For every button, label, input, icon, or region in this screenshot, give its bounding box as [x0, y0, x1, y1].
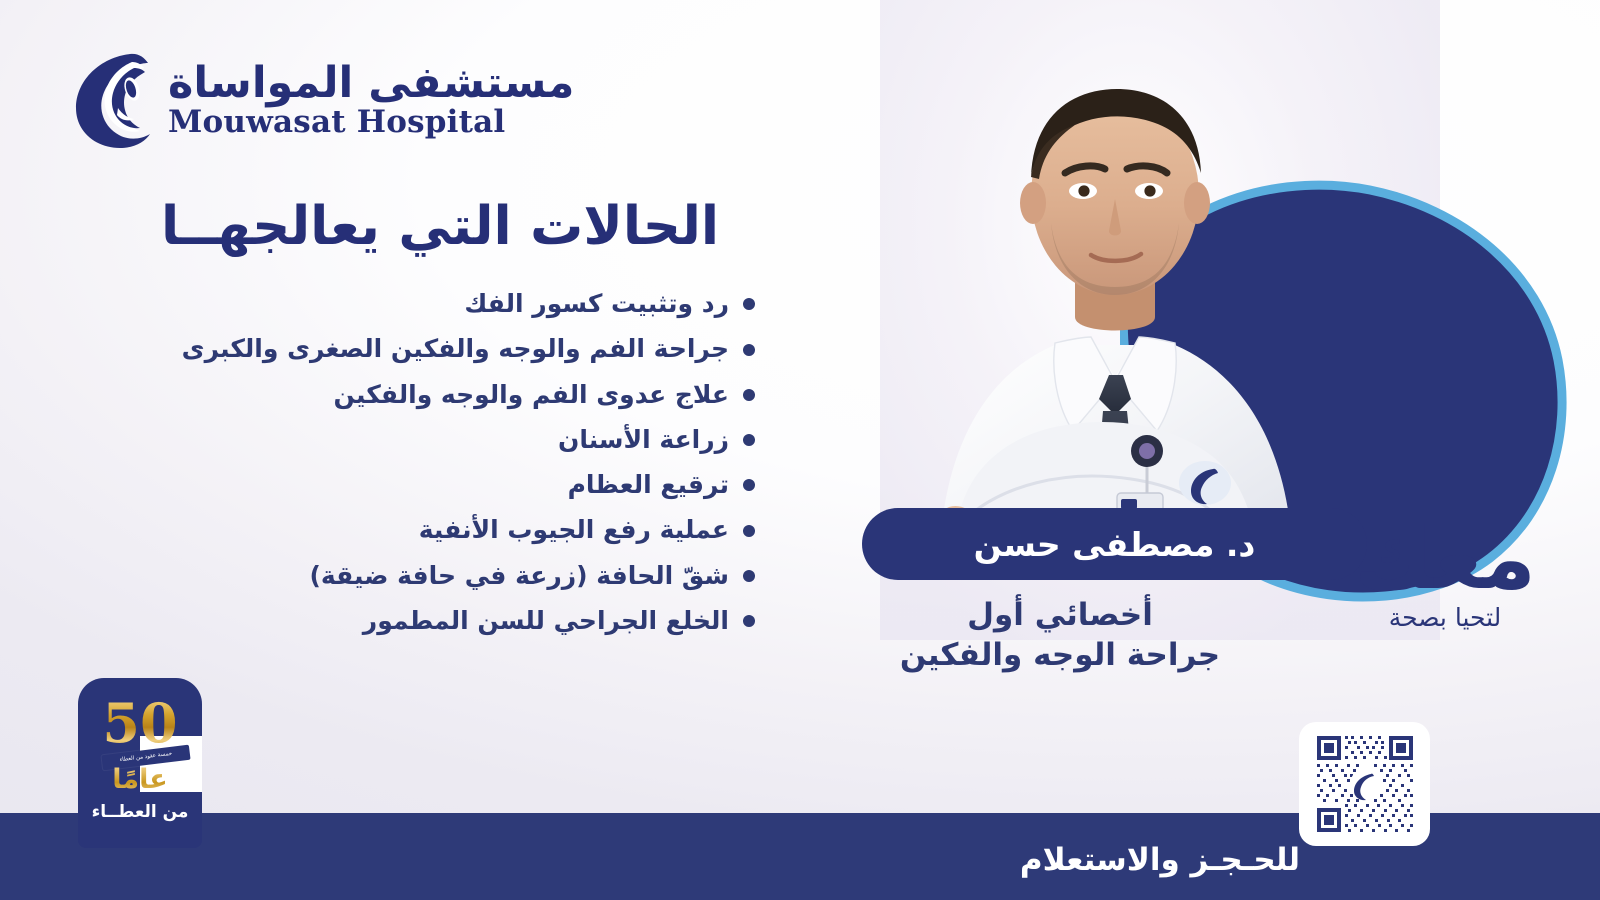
condition-label: عملية رفع الجيوب الأنفية [419, 516, 729, 545]
anniversary-badge: 50 خمسة عقود من العطاء عامًا من العطــاء [78, 678, 202, 848]
condition-label: زراعة الأسنان [558, 426, 729, 455]
list-item: شقّ الحافة (زرعة في حافة ضيقة) [115, 562, 755, 591]
hospital-logo: مستشفى المواساة Mouwasat Hospital [70, 48, 574, 152]
logo-arabic-text: مستشفى المواساة [168, 62, 574, 105]
doctor-portrait [905, 55, 1325, 575]
doctor-specialty: أخصائي أول جراحة الوجه والفكين [700, 596, 1420, 675]
condition-label: جراحة الفم والوجه والفكين الصغرى والكبرى [182, 335, 729, 364]
condition-label: الخلع الجراحي للسن المطمور [363, 607, 729, 636]
list-item: عملية رفع الجيوب الأنفية [115, 516, 755, 545]
list-item: زراعة الأسنان [115, 426, 755, 455]
bullet-dot-icon [743, 525, 755, 537]
doctor-name-badge: د. مصطفى حسن [862, 508, 1367, 580]
qr-code-card[interactable] [1299, 722, 1430, 846]
condition-label: رد وتثبيت كسور الفك [464, 290, 729, 319]
doctor-name: د. مصطفى حسن [974, 525, 1256, 564]
logo-english-text: Mouwasat Hospital [168, 107, 574, 138]
condition-label: علاج عدوى الفم والوجه والفكين [334, 381, 730, 410]
condition-label: ترقيع العظام [568, 471, 729, 500]
list-item: علاج عدوى الفم والوجه والفكين [115, 381, 755, 410]
specialty-line-2: جراحة الوجه والفكين [700, 636, 1420, 676]
list-item: ترقيع العظام [115, 471, 755, 500]
anniversary-of-giving: من العطــاء [78, 802, 202, 822]
page-title: الحالات التي يعالجهــا [140, 196, 740, 257]
anniversary-number: 50 [78, 696, 202, 750]
bullet-dot-icon [743, 434, 755, 446]
bullet-dot-icon [743, 389, 755, 401]
list-item: جراحة الفم والوجه والفكين الصغرى والكبرى [115, 335, 755, 364]
conditions-list: رد وتثبيت كسور الفك جراحة الفم والوجه وا… [115, 290, 755, 652]
brand-tagline: معك لتحيا بصحة [1330, 520, 1560, 632]
bullet-dot-icon [743, 479, 755, 491]
booking-cta-label: للحـجـز والاستعلام [1020, 842, 1300, 878]
tagline-main: معك [1330, 520, 1560, 599]
list-item: الخلع الجراحي للسن المطمور [115, 607, 755, 636]
condition-label: شقّ الحافة (زرعة في حافة ضيقة) [309, 562, 729, 591]
bullet-dot-icon [743, 298, 755, 310]
crescent-moon-icon [70, 48, 154, 152]
bullet-dot-icon [743, 344, 755, 356]
bullet-dot-icon [743, 570, 755, 582]
list-item: رد وتثبيت كسور الفك [115, 290, 755, 319]
advertisement-poster: مستشفى المواساة Mouwasat Hospital الحالا… [0, 0, 1600, 900]
specialty-line-1: أخصائي أول [700, 596, 1420, 636]
qr-code-icon[interactable] [1313, 732, 1417, 836]
anniversary-years-word: عامًا [78, 766, 202, 793]
